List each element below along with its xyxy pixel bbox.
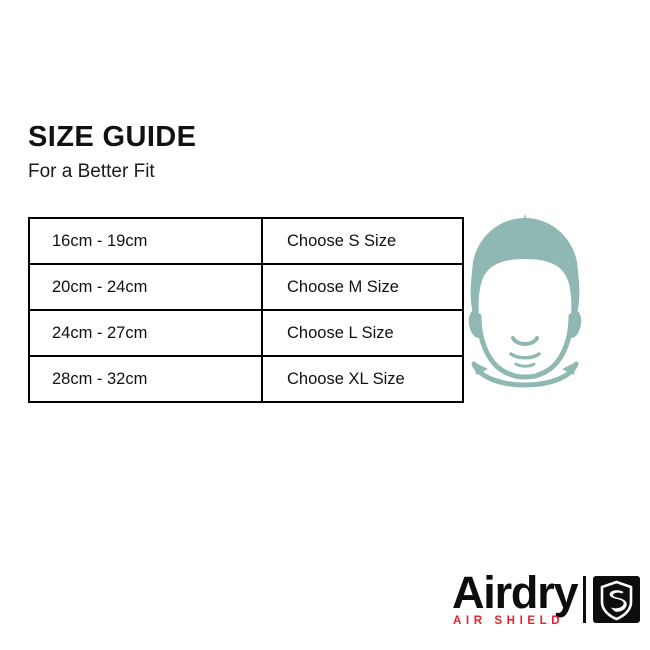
page-title: SIZE GUIDE bbox=[28, 122, 196, 152]
measurement-range-cell: 16cm - 19cm bbox=[29, 218, 262, 264]
measurement-range-cell: 28cm - 32cm bbox=[29, 356, 262, 402]
shield-s-badge-icon bbox=[593, 576, 640, 623]
recommended-size-cell: Choose S Size bbox=[262, 218, 463, 264]
table-row: 24cm - 27cm Choose L Size bbox=[29, 310, 463, 356]
size-guide-table: 16cm - 19cm Choose S Size 20cm - 24cm Ch… bbox=[28, 217, 464, 403]
brand-logo: Airdry AIR SHIELD bbox=[452, 572, 622, 634]
table-row: 28cm - 32cm Choose XL Size bbox=[29, 356, 463, 402]
size-guide-page: SIZE GUIDE For a Better Fit 16cm - 19cm … bbox=[0, 0, 650, 650]
recommended-size-cell: Choose XL Size bbox=[262, 356, 463, 402]
brand-tagline: AIR SHIELD bbox=[453, 616, 580, 628]
page-subtitle: For a Better Fit bbox=[28, 162, 196, 183]
measurement-range-cell: 20cm - 24cm bbox=[29, 264, 262, 310]
table-row: 20cm - 24cm Choose M Size bbox=[29, 264, 463, 310]
table-row: 16cm - 19cm Choose S Size bbox=[29, 218, 463, 264]
recommended-size-cell: Choose M Size bbox=[262, 264, 463, 310]
brand-wordmark-group: Airdry AIR SHIELD bbox=[452, 572, 580, 627]
heading-block: SIZE GUIDE For a Better Fit bbox=[28, 122, 196, 183]
head-measurement-illustration bbox=[455, 212, 595, 394]
measurement-range-cell: 24cm - 27cm bbox=[29, 310, 262, 356]
recommended-size-cell: Choose L Size bbox=[262, 310, 463, 356]
brand-divider bbox=[583, 576, 586, 623]
brand-wordmark: Airdry bbox=[452, 572, 580, 615]
